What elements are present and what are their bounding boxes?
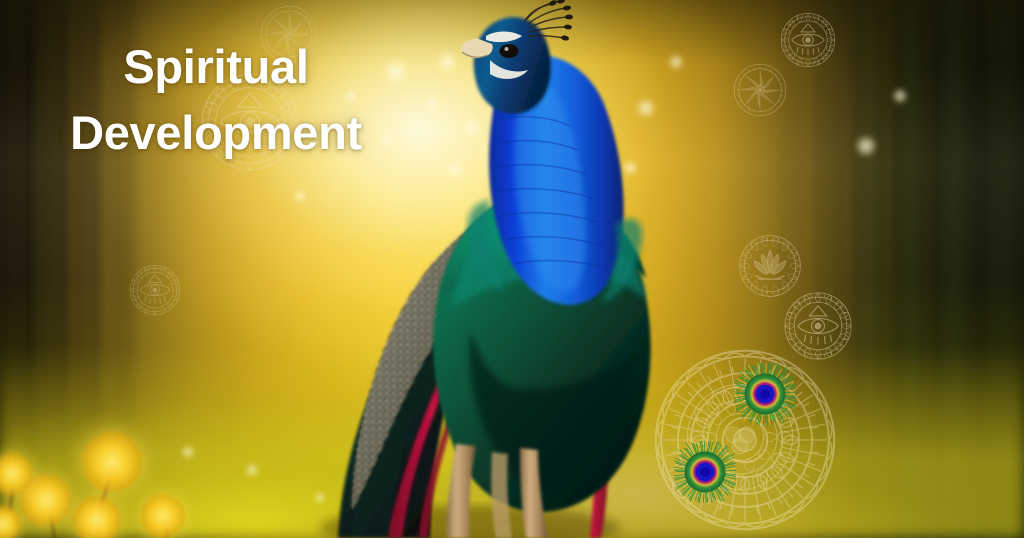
- peacock-eye: [500, 44, 519, 58]
- third-eye-mandala-icon: [128, 263, 182, 317]
- peacock-crest-tips: [548, 0, 573, 41]
- star-mandala-icon: [732, 62, 788, 118]
- star-mandala-icon: [259, 4, 319, 64]
- peacock-feather-eye: [674, 441, 736, 503]
- peacock-legs: [446, 444, 548, 538]
- third-eye-mandala-icon: [198, 70, 302, 174]
- third-eye-mandala-icon: [779, 11, 837, 69]
- peacock-feather-eye: [734, 363, 796, 425]
- spiritual-development-banner: Spiritual Development: [0, 0, 1024, 538]
